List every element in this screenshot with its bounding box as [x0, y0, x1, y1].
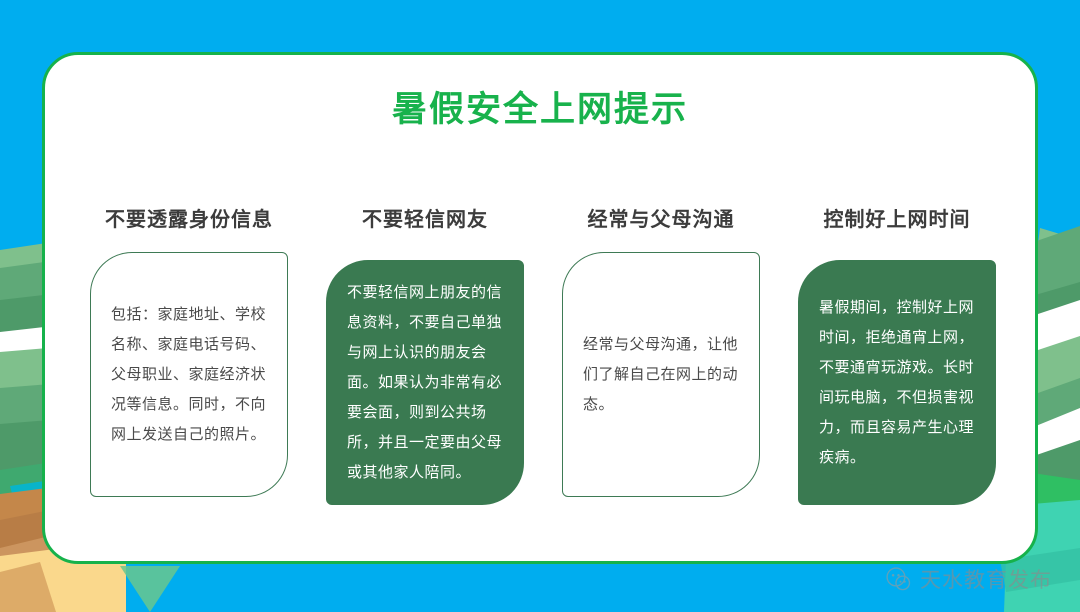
- tip-card-3: 经常与父母沟通，让他们了解自己在网上的动态。: [562, 252, 760, 497]
- tip-body-4: 暑假期间，控制好上网时间，拒绝通宵上网，不要通宵玩游戏。长时间玩电脑，不但损害视…: [819, 293, 975, 473]
- tip-heading-1: 不要透露身份信息: [105, 203, 273, 232]
- tip-heading-2: 不要轻信网友: [362, 203, 488, 232]
- watermark: 天水教育发布: [885, 564, 1052, 594]
- page-title: 暑假安全上网提示: [45, 89, 1035, 131]
- tip-body-1: 包括：家庭地址、学校名称、家庭电话号码、父母职业、家庭经济状况等信息。同时，不向…: [111, 300, 267, 450]
- tip-column-3: 经常与父母沟通 经常与父母沟通，让他们了解自己在网上的动态。: [555, 203, 767, 497]
- tip-column-1: 不要透露身份信息 包括：家庭地址、学校名称、家庭电话号码、父母职业、家庭经济状况…: [83, 203, 295, 497]
- tip-heading-4: 控制好上网时间: [824, 203, 971, 232]
- wechat-icon: [885, 566, 912, 593]
- tip-column-4: 控制好上网时间 暑假期间，控制好上网时间，拒绝通宵上网，不要通宵玩游戏。长时间玩…: [791, 203, 1003, 505]
- tip-heading-3: 经常与父母沟通: [588, 203, 735, 232]
- tip-column-2: 不要轻信网友 不要轻信网上朋友的信息资料，不要自己单独与网上认识的朋友会面。如果…: [319, 203, 531, 505]
- tip-card-2: 不要轻信网上朋友的信息资料，不要自己单独与网上认识的朋友会面。如果认为非常有必要…: [326, 260, 524, 505]
- tip-card-1: 包括：家庭地址、学校名称、家庭电话号码、父母职业、家庭经济状况等信息。同时，不向…: [90, 252, 288, 497]
- tip-body-3: 经常与父母沟通，让他们了解自己在网上的动态。: [583, 330, 739, 420]
- tip-body-2: 不要轻信网上朋友的信息资料，不要自己单独与网上认识的朋友会面。如果认为非常有必要…: [347, 278, 503, 488]
- watermark-label: 天水教育发布: [920, 564, 1052, 594]
- content-panel: 暑假安全上网提示 不要透露身份信息 包括：家庭地址、学校名称、家庭电话号码、父母…: [42, 52, 1038, 564]
- bottom-decorations: [120, 560, 300, 612]
- tip-card-4: 暑假期间，控制好上网时间，拒绝通宵上网，不要通宵玩游戏。长时间玩电脑，不但损害视…: [798, 260, 996, 505]
- poster-canvas: 暑假安全上网提示 不要透露身份信息 包括：家庭地址、学校名称、家庭电话号码、父母…: [0, 0, 1080, 612]
- tips-row: 不要透露身份信息 包括：家庭地址、学校名称、家庭电话号码、父母职业、家庭经济状况…: [83, 203, 1003, 505]
